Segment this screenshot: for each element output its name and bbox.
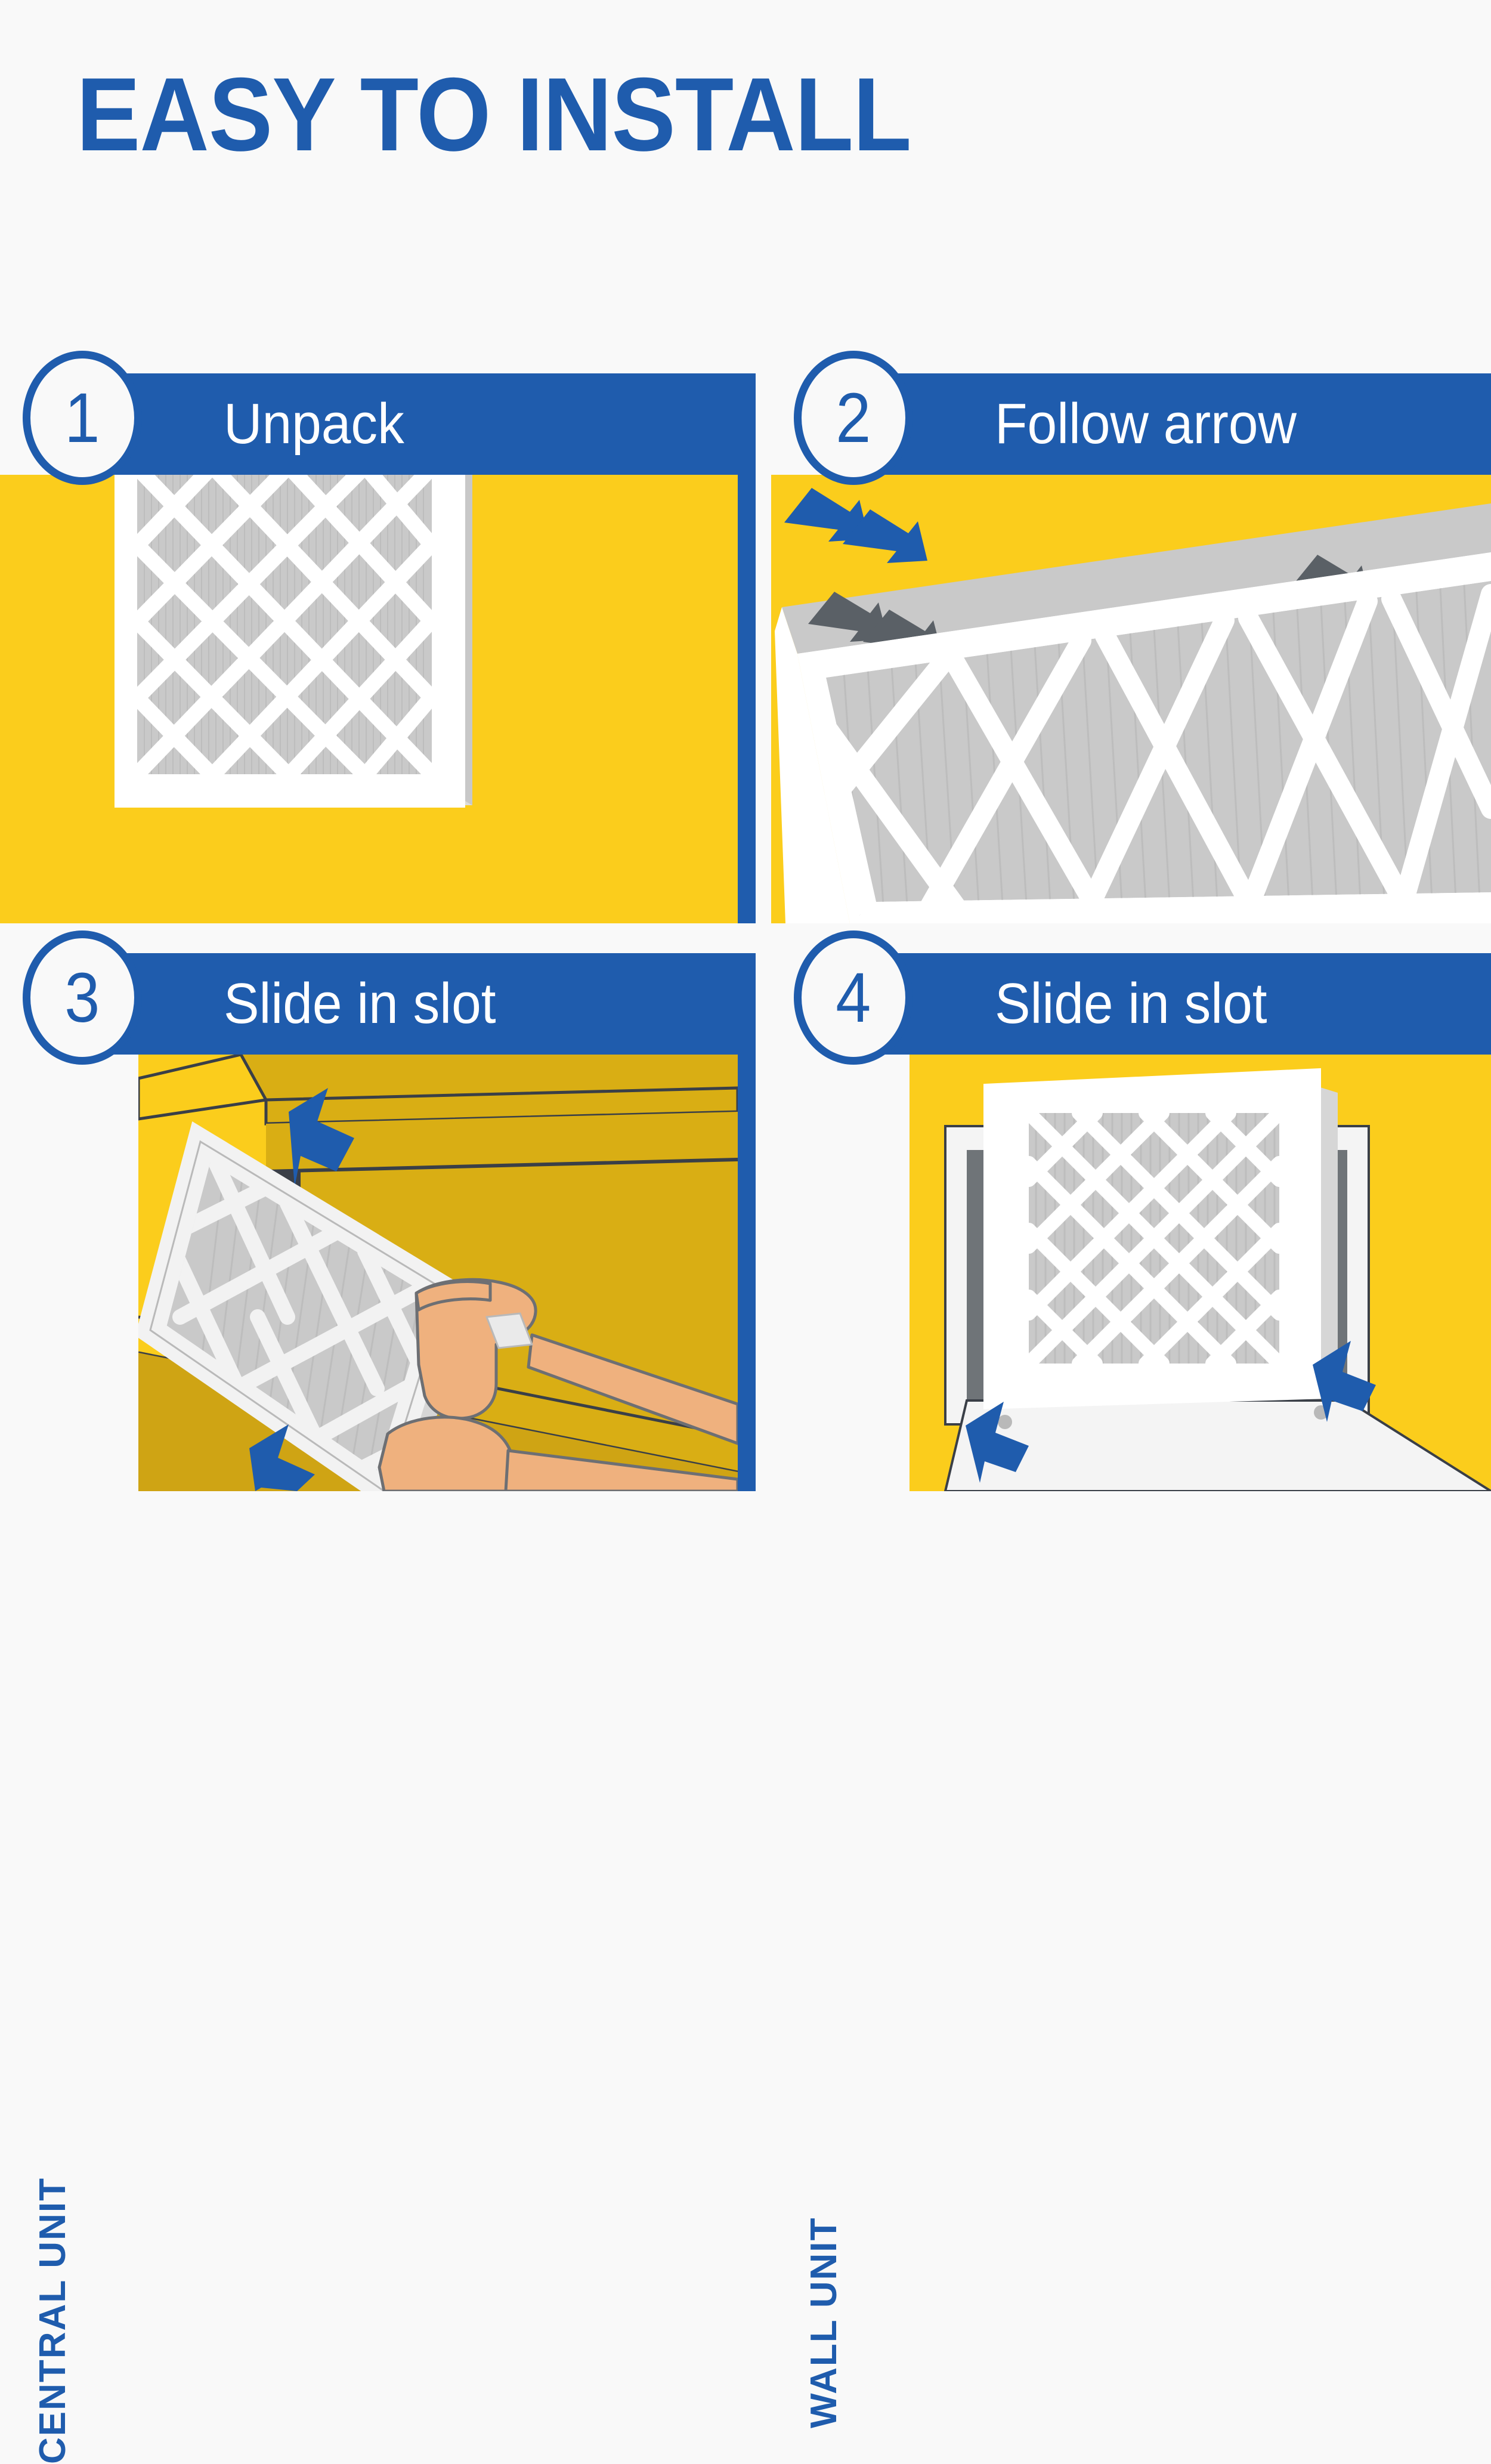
step-panel-4: WALL UNIT Slide in slot 4 bbox=[771, 930, 1491, 1491]
step-3-header: Slide in slot bbox=[95, 953, 738, 1055]
step-2-illustration bbox=[771, 475, 1491, 923]
step-3-label: Slide in slot bbox=[224, 971, 496, 1037]
step-1-number-badge: 1 bbox=[23, 351, 142, 485]
column-divider-bottom bbox=[738, 953, 756, 1491]
step-4-label: Slide in slot bbox=[995, 971, 1267, 1037]
step-panel-3: CENTRAL UNIT Slide in slot 3 bbox=[0, 930, 738, 1491]
step-4-number-badge: 4 bbox=[794, 930, 913, 1065]
wall-vent-filter-insert-icon bbox=[910, 1055, 1491, 1491]
step-panel-1: Unpack 1 bbox=[0, 351, 738, 923]
step-3-number: 3 bbox=[64, 957, 100, 1038]
step-4-side-label: WALL UNIT bbox=[803, 2217, 845, 2428]
step-2-number-badge: 2 bbox=[794, 351, 913, 485]
step-panel-2: Follow arrow 2 bbox=[771, 351, 1491, 923]
step-2-label: Follow arrow bbox=[995, 391, 1297, 457]
air-filter-front-icon bbox=[115, 475, 484, 815]
step-3-number-badge: 3 bbox=[23, 930, 142, 1065]
step-1-header: Unpack bbox=[95, 373, 738, 475]
airflow-arrow-blue-left bbox=[784, 488, 927, 563]
step-4-number: 4 bbox=[836, 957, 871, 1038]
step-3-side-label: CENTRAL UNIT bbox=[32, 2177, 74, 2464]
tilted-air-filter-icon bbox=[771, 475, 1491, 923]
air-filter-wall bbox=[998, 1083, 1338, 1395]
step-4-header: Slide in slot bbox=[867, 953, 1491, 1055]
column-divider-top bbox=[738, 373, 756, 923]
step-1-label: Unpack bbox=[224, 391, 404, 457]
step-3-illustration bbox=[138, 1055, 738, 1491]
step-4-illustration bbox=[910, 1055, 1491, 1491]
furnace-filter-insert-icon bbox=[138, 1055, 738, 1491]
step-1-illustration bbox=[0, 475, 738, 923]
step-2-number: 2 bbox=[836, 378, 871, 459]
page-title: EASY TO INSTALL bbox=[76, 63, 911, 167]
step-2-header: Follow arrow bbox=[867, 373, 1491, 475]
step-1-number: 1 bbox=[64, 378, 100, 459]
